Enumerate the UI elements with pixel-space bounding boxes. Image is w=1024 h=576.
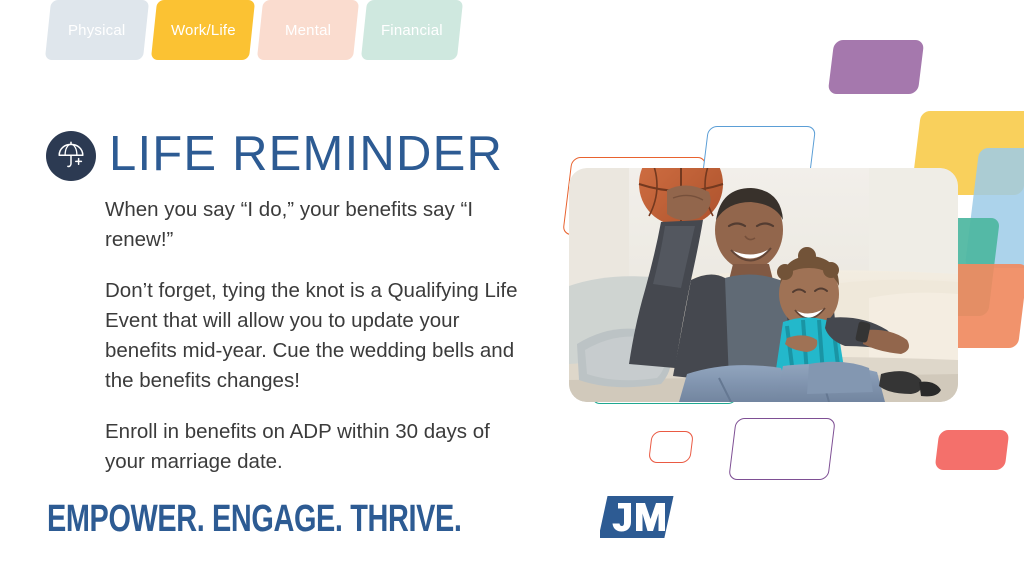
category-tabs: Physical Work/Life Mental Financial [48,0,468,62]
photo-family-couch [569,168,958,402]
tab-work-life[interactable]: Work/Life [151,0,255,60]
tab-physical[interactable]: Physical [45,0,149,60]
tab-work-life-label: Work/Life [167,22,240,39]
shape-purple-outline-large [728,418,836,480]
tab-financial-label: Financial [377,22,447,39]
shape-coral-filled [935,430,1010,470]
tab-mental[interactable]: Mental [257,0,359,60]
paragraph-action: Enroll in benefits on ADP within 30 days… [105,417,530,477]
slide-canvas: Physical Work/Life Mental Financial LIFE… [0,0,1024,576]
umbrella-plus-icon [46,131,96,181]
shape-purple-filled [828,40,925,94]
shape-red-outline-small [648,431,694,463]
body-copy: When you say “I do,” your benefits say “… [105,195,530,477]
decorative-artwork [545,0,1024,576]
tab-mental-label: Mental [281,22,335,39]
tab-physical-label: Physical [64,22,129,39]
headline-row: LIFE REMINDER [46,131,503,181]
paragraph-detail: Don’t forget, tying the knot is a Qualif… [105,276,530,396]
paragraph-intro: When you say “I do,” your benefits say “… [105,195,530,255]
tagline: EMPOWER. ENGAGE. THRIVE. [47,498,461,541]
tab-financial[interactable]: Financial [361,0,463,60]
page-title: LIFE REMINDER [109,130,503,179]
